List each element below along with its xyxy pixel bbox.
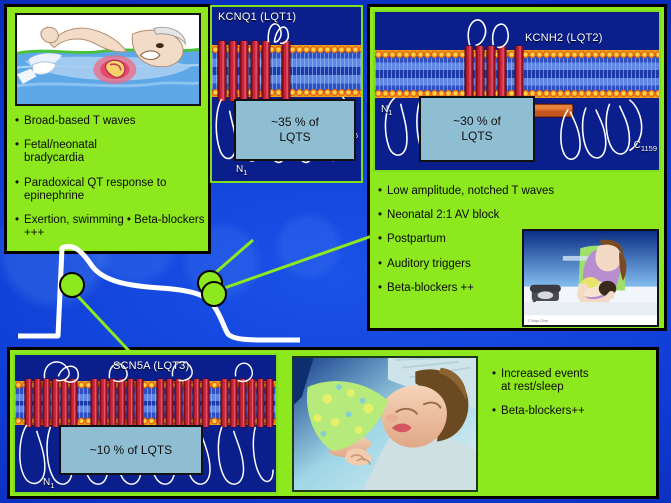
lqt3-percentage-callout: ~10 % of LQTS (59, 425, 203, 475)
lqt2-channel-topology: KCNH2 (LQT2) (373, 10, 661, 172)
bullet-dot-icon: • (378, 209, 382, 222)
c-letter: C (634, 140, 641, 151)
list-item: • Broad-based T waves (15, 115, 208, 128)
bullet-dot-icon: • (15, 115, 19, 128)
list-item: • Fetal/neonatal bradycardia (15, 139, 208, 165)
lqt3-n-terminus-label: N1 (43, 477, 54, 490)
panel-lqt1: • Broad-based T waves • Fetal/neonatal b… (5, 5, 210, 253)
phase-0-upstroke-node (59, 272, 85, 298)
lqt1-bullet-0: Broad-based T waves (24, 115, 135, 128)
lqt2-bullet-1: Neonatal 2:1 AV block (387, 209, 499, 222)
lqt1-gene-label: KCNQ1 (LQT1) (218, 11, 296, 23)
list-item: • Neonatal 2:1 AV block (378, 209, 664, 222)
n-subscript: 1 (388, 108, 392, 117)
lqt2-bullet-0: Low amplitude, notched T waves (387, 185, 554, 198)
figure-canvas: • Broad-based T waves • Fetal/neonatal b… (0, 0, 671, 503)
lqt2-percentage-callout: ~30 % of LQTS (419, 96, 535, 162)
lqt1-n-terminus-label: N1 (236, 164, 247, 177)
lqt1-channel-topology: KCNQ1 (LQT1) N (210, 5, 363, 183)
bullet-dot-icon: • (492, 368, 496, 394)
bullet-dot-icon: • (378, 185, 382, 198)
lqt2-gene-label: KCNH2 (LQT2) (525, 32, 603, 44)
mother-infant-telephone-illustration: © Mayo Clinic (522, 229, 659, 327)
list-item: • Increased events at rest/sleep (492, 368, 660, 394)
lqt3-gene-label: SCN5A (LQT3) (113, 360, 189, 372)
bullet-dot-icon: • (15, 139, 19, 165)
list-item: • Paradoxical QT response to epinephrine (15, 177, 208, 203)
lqt1-bullet-2: Paradoxical QT response to epinephrine (24, 177, 208, 203)
n-subscript: 1 (243, 168, 247, 177)
lqt1-percentage-callout: ~35 % of LQTS (234, 99, 356, 161)
svg-text:© Mayo Clinic: © Mayo Clinic (528, 319, 549, 323)
n-subscript: 1 (50, 481, 54, 490)
bullet-dot-icon: • (15, 177, 19, 203)
list-item: • Beta-blockers++ (492, 405, 660, 418)
lqt3-bullet-0: Increased events at rest/sleep (501, 368, 589, 394)
swimmer-illustration (15, 13, 201, 106)
lqt1-bullet-1: Fetal/neonatal bradycardia (24, 139, 97, 165)
lqt1-bullet-list: • Broad-based T waves • Fetal/neonatal b… (7, 115, 208, 252)
lqt3-bullet-1: Beta-blockers++ (501, 405, 585, 418)
lqt3-bullet-list: • Increased events at rest/sleep • Beta-… (484, 368, 660, 430)
lqt3-channel-topology: SCN5A (LQT3) (13, 353, 278, 494)
bullet-dot-icon: • (492, 405, 496, 418)
sleeping-child-photograph (292, 356, 478, 492)
lqt2-c-terminus-label: C1159 (634, 140, 657, 153)
list-item: • Low amplitude, notched T waves (378, 185, 664, 198)
repolarization-node-lower (201, 281, 227, 307)
lqt2-n-terminus-label: N1 (381, 104, 392, 117)
c-subscript: 1159 (641, 144, 657, 153)
